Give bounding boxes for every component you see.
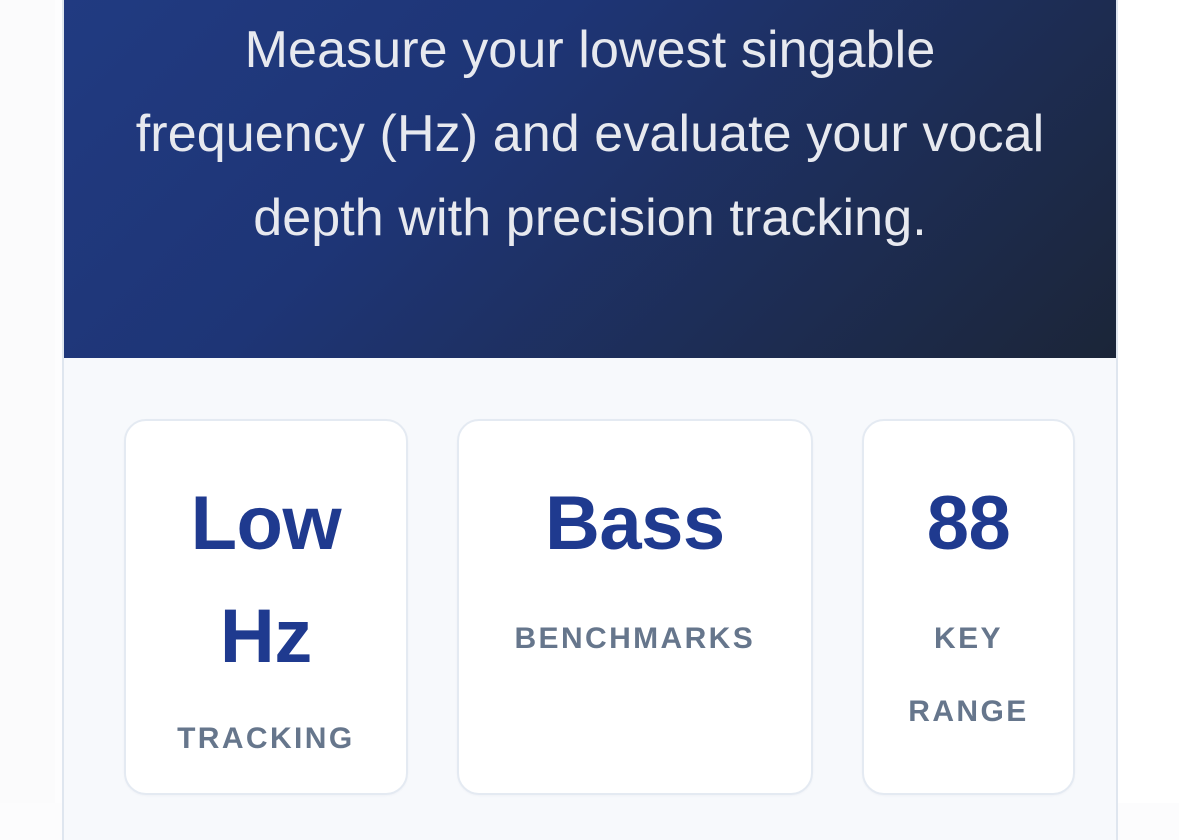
stat-value-benchmarks: Bass: [473, 467, 797, 580]
page-root: Measure your lowest singable frequency (…: [0, 0, 1179, 803]
stat-label-tracking: TRACKING: [140, 702, 392, 775]
stat-value-key-range: 88: [878, 467, 1059, 580]
stat-card-tracking[interactable]: Low Hz TRACKING: [124, 419, 408, 795]
stat-card-benchmarks[interactable]: Bass BENCHMARKS: [457, 419, 813, 795]
stat-card-key-range[interactable]: 88 KEY RANGE: [862, 419, 1075, 795]
stat-label-benchmarks: BENCHMARKS: [473, 602, 797, 675]
app-panel: Measure your lowest singable frequency (…: [62, 0, 1118, 840]
hero-subtitle: Measure your lowest singable frequency (…: [130, 8, 1050, 260]
stat-label-key-range: KEY RANGE: [878, 602, 1059, 748]
stat-value-tracking: Low Hz: [140, 467, 392, 693]
stats-row: Low Hz TRACKING Bass BENCHMARKS 88 KEY R…: [64, 358, 1116, 840]
hero-banner: Measure your lowest singable frequency (…: [64, 0, 1116, 358]
